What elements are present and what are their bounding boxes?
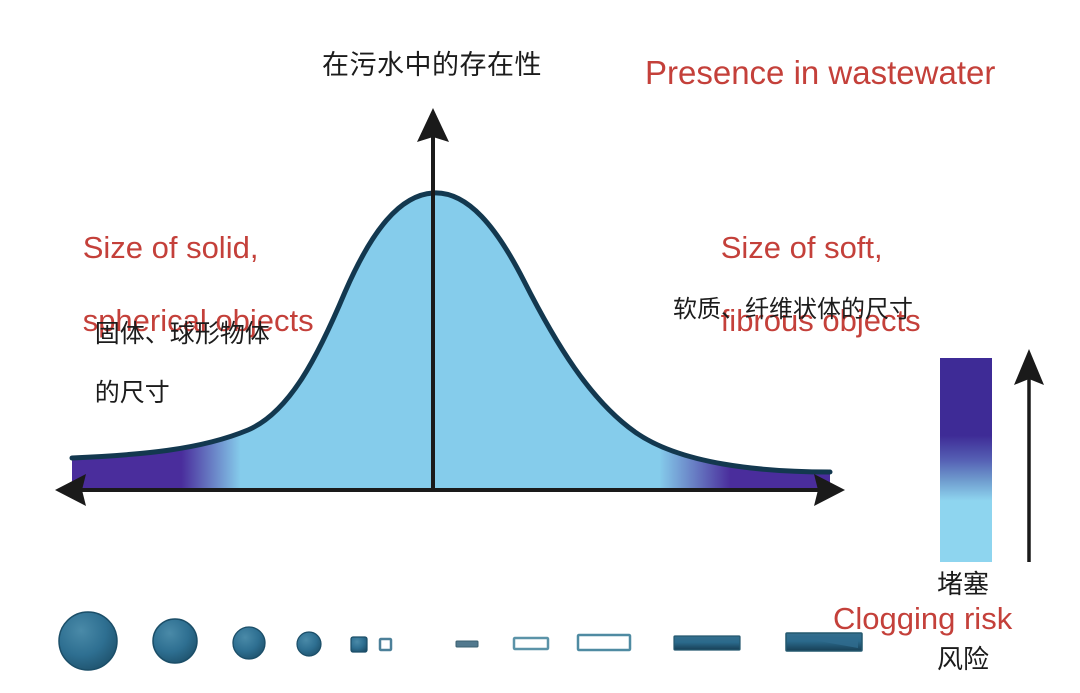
right-axis-label-chinese: 软质、纤维状体的尺寸 <box>673 295 913 323</box>
right-label-en-line1: Size of soft, <box>721 230 883 265</box>
chart-title-chinese: 在污水中的存在性 <box>322 50 542 82</box>
legend-label-chinese-bottom: 风险 <box>937 645 989 676</box>
left-label-cn-line1: 固体、球形物体 <box>95 319 270 348</box>
chart-title-english: Presence in wastewater <box>645 54 995 93</box>
text-layer: 在污水中的存在性 Presence in wastewater Size of … <box>0 0 1080 693</box>
right-axis-label-english: Size of soft, fibrous objects <box>669 193 921 376</box>
left-axis-label-chinese: 固体、球形物体 的尺寸 <box>47 289 270 437</box>
legend-label-english: Clogging risk <box>833 601 1012 638</box>
diagram-canvas: 在污水中的存在性 Presence in wastewater Size of … <box>0 0 1080 693</box>
legend-label-chinese-top: 堵塞 <box>937 570 989 601</box>
left-label-cn-line2: 的尺寸 <box>95 378 170 407</box>
left-label-en-line1: Size of solid, <box>83 230 259 265</box>
